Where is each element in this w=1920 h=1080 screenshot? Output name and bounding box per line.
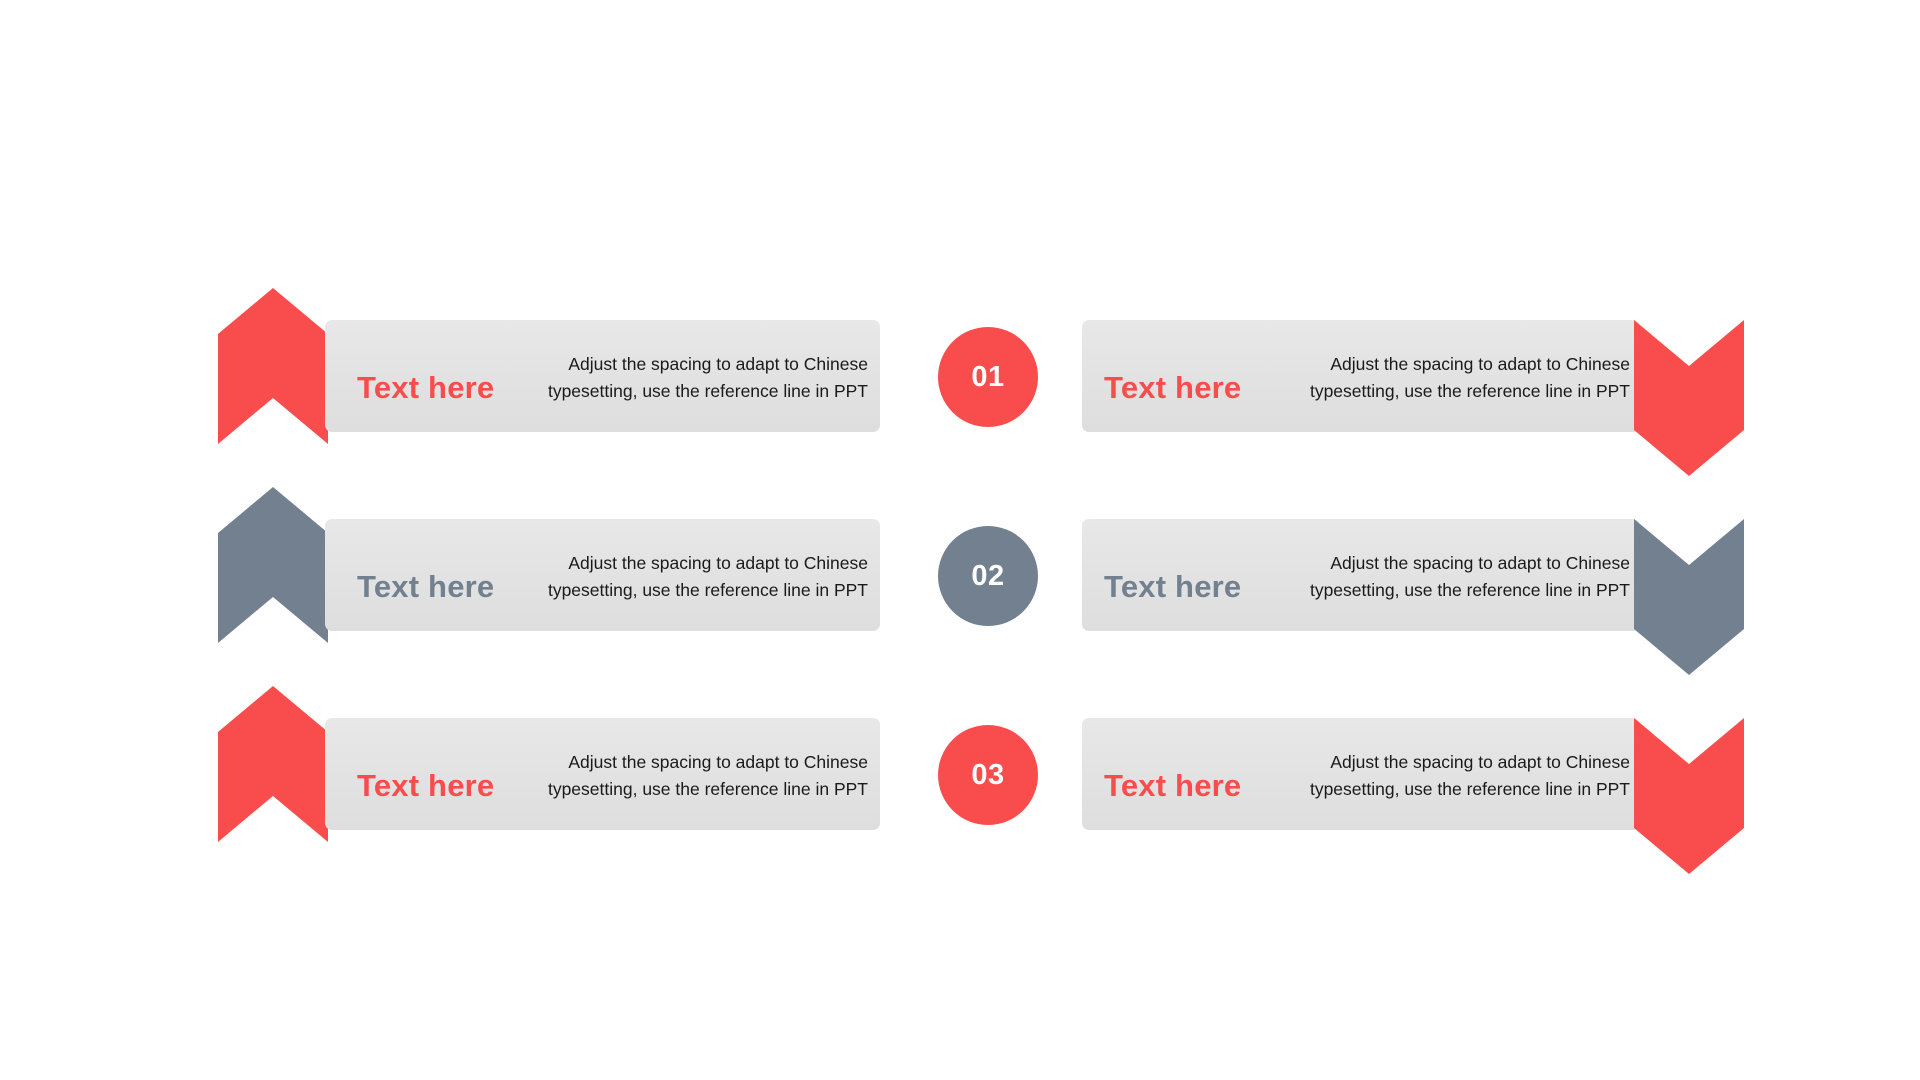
left-item-group[interactable]: Text here Adjust the spacing to adapt to… [218, 487, 880, 677]
item-body-text: Adjust the spacing to adapt to Chinese t… [1310, 351, 1630, 404]
infographic-row: Text here Adjust the spacing to adapt to… [0, 288, 1920, 478]
step-number-badge[interactable]: 02 [938, 526, 1038, 626]
content-panel: Text here Adjust the spacing to adapt to… [1082, 718, 1640, 830]
panel-content: Text here Adjust the spacing to adapt to… [1082, 320, 1640, 432]
content-panel: Text here Adjust the spacing to adapt to… [325, 320, 880, 432]
chevron-up-icon [218, 487, 328, 643]
item-heading: Text here [1104, 370, 1241, 406]
item-heading: Text here [1104, 768, 1241, 804]
left-item-group[interactable]: Text here Adjust the spacing to adapt to… [218, 288, 880, 478]
step-number-badge[interactable]: 01 [938, 327, 1038, 427]
step-number-label: 03 [971, 759, 1004, 792]
content-panel: Text here Adjust the spacing to adapt to… [325, 519, 880, 631]
right-item-group[interactable]: Text here Adjust the spacing to adapt to… [1082, 686, 1752, 876]
step-number-badge[interactable]: 03 [938, 725, 1038, 825]
panel-content: Text here Adjust the spacing to adapt to… [325, 320, 880, 432]
right-item-group[interactable]: Text here Adjust the spacing to adapt to… [1082, 288, 1752, 478]
panel-content: Text here Adjust the spacing to adapt to… [1082, 519, 1640, 631]
content-panel: Text here Adjust the spacing to adapt to… [1082, 519, 1640, 631]
chevron-up-icon [218, 686, 328, 842]
item-body-text: Adjust the spacing to adapt to Chinese t… [1310, 749, 1630, 802]
infographic-row: Text here Adjust the spacing to adapt to… [0, 686, 1920, 876]
chevron-down-icon [1634, 320, 1744, 476]
infographic-row: Text here Adjust the spacing to adapt to… [0, 487, 1920, 677]
item-heading: Text here [357, 370, 494, 406]
item-heading: Text here [357, 569, 494, 605]
step-number-label: 01 [971, 361, 1004, 394]
chevron-down-icon [1634, 519, 1744, 675]
right-item-group[interactable]: Text here Adjust the spacing to adapt to… [1082, 487, 1752, 677]
chevron-down-icon [1634, 718, 1744, 874]
panel-content: Text here Adjust the spacing to adapt to… [325, 519, 880, 631]
left-item-group[interactable]: Text here Adjust the spacing to adapt to… [218, 686, 880, 876]
panel-content: Text here Adjust the spacing to adapt to… [1082, 718, 1640, 830]
item-body-text: Adjust the spacing to adapt to Chinese t… [548, 550, 868, 603]
chevron-up-icon [218, 288, 328, 444]
slide-canvas: Text here Adjust the spacing to adapt to… [0, 0, 1920, 1080]
step-number-label: 02 [971, 560, 1004, 593]
content-panel: Text here Adjust the spacing to adapt to… [325, 718, 880, 830]
content-panel: Text here Adjust the spacing to adapt to… [1082, 320, 1640, 432]
panel-content: Text here Adjust the spacing to adapt to… [325, 718, 880, 830]
item-body-text: Adjust the spacing to adapt to Chinese t… [548, 749, 868, 802]
item-heading: Text here [1104, 569, 1241, 605]
item-heading: Text here [357, 768, 494, 804]
item-body-text: Adjust the spacing to adapt to Chinese t… [1310, 550, 1630, 603]
item-body-text: Adjust the spacing to adapt to Chinese t… [548, 351, 868, 404]
